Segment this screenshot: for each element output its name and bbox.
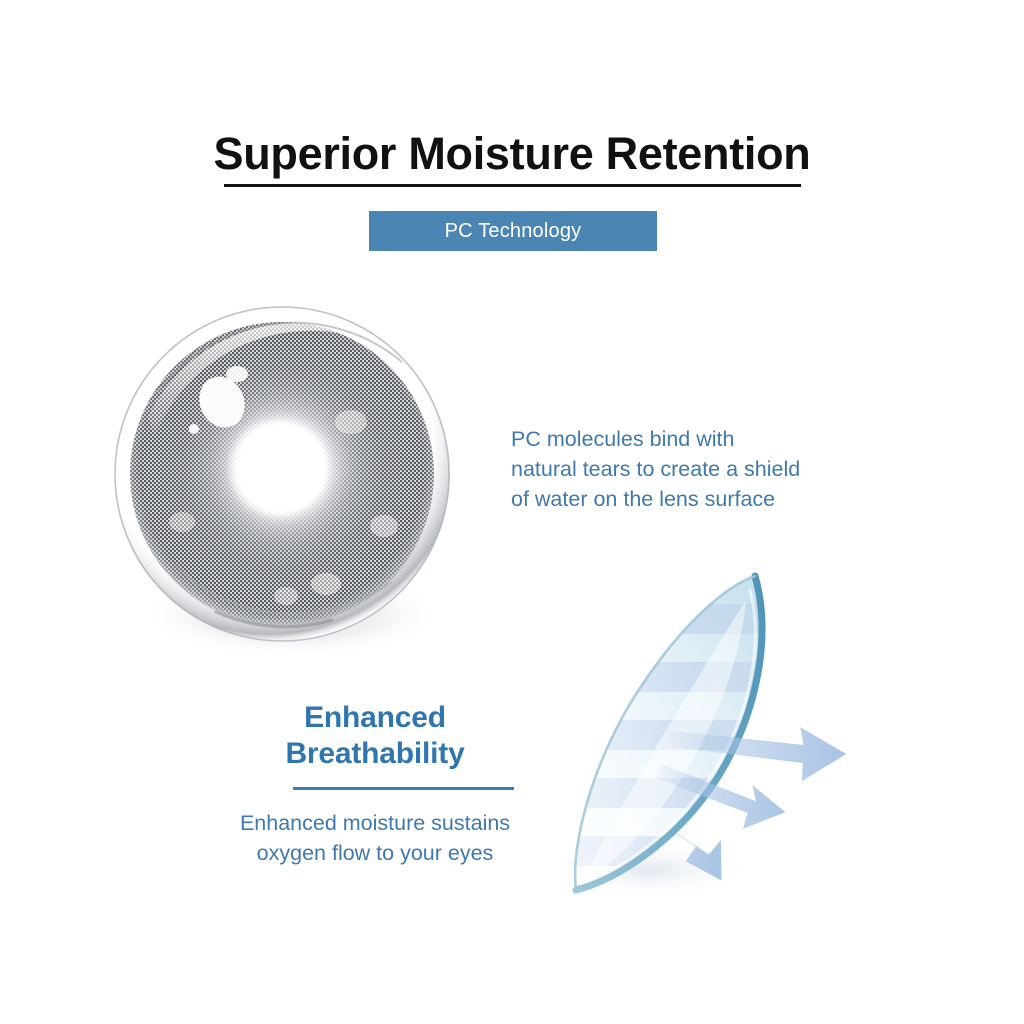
lens-pupil-center [226, 417, 328, 519]
breathability-description-line-2: oxygen flow to your eyes [185, 838, 565, 868]
breathability-description-line-1: Enhanced moisture sustains [185, 808, 565, 838]
round-contact-lens-image [96, 296, 468, 676]
breathability-underline-rule [293, 787, 514, 790]
pc-description-line-2: natural tears to create a shield [511, 454, 871, 484]
breathability-heading-line-1: Enhanced [203, 700, 547, 736]
lens-cross-section-image [540, 548, 900, 908]
cross-section-svg [540, 548, 900, 908]
breathability-description: Enhanced moisture sustains oxygen flow t… [185, 808, 565, 868]
title-underline-rule [224, 184, 801, 187]
breathability-heading-line-2: Breathability [203, 736, 547, 772]
pc-technology-banner: PC Technology [369, 211, 657, 251]
pc-technology-description: PC molecules bind with natural tears to … [511, 424, 871, 514]
pc-technology-banner-label: PC Technology [445, 220, 582, 243]
pc-description-line-1: PC molecules bind with [511, 424, 871, 454]
breathability-heading: Enhanced Breathability [203, 700, 547, 772]
round-lens-svg [96, 296, 468, 676]
infographic-canvas: Superior Moisture Retention PC Technolog… [0, 0, 1024, 1024]
page-title: Superior Moisture Retention [0, 128, 1024, 180]
pc-description-line-3: of water on the lens surface [511, 484, 871, 514]
